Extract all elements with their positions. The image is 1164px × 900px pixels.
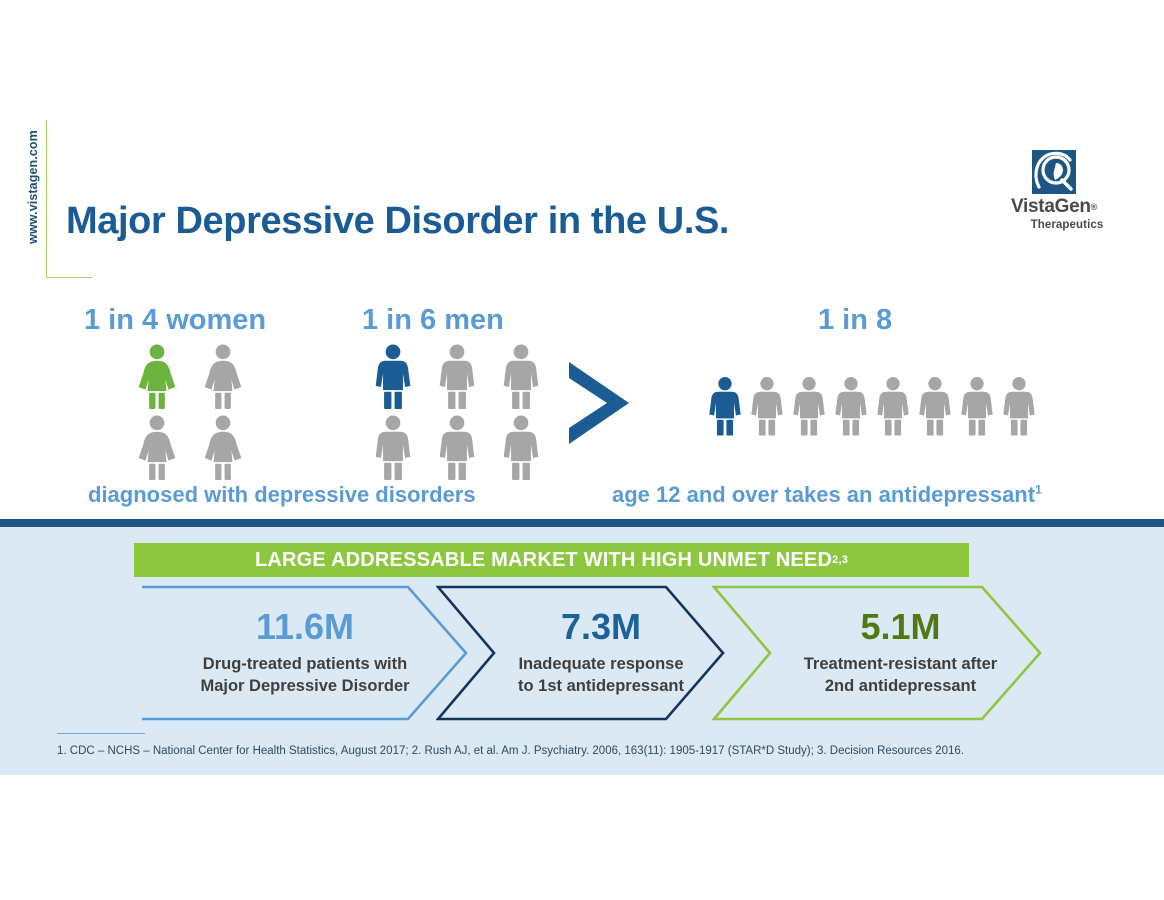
male-figure-icon xyxy=(1000,376,1038,436)
male-figure-icon xyxy=(916,376,954,436)
funnel-stage-1-desc-line2: Major Depressive Disorder xyxy=(200,675,409,697)
male-figure-icon xyxy=(874,376,912,436)
logo-registered-mark: ® xyxy=(1091,202,1097,212)
male-figure-icon xyxy=(790,376,828,436)
funnel-stage-2-desc-line1: Inadequate response xyxy=(518,653,684,675)
vertical-accent-rule-foot xyxy=(46,277,92,278)
market-banner: LARGE ADDRESSABLE MARKET WITH HIGH UNMET… xyxy=(134,543,969,577)
footnote-text: 1. CDC – NCHS – National Center for Heal… xyxy=(57,745,964,757)
funnel-stage-1-desc-line1: Drug-treated patients with xyxy=(200,653,409,675)
stat-caption-right: age 12 and over takes an antidepressant1 xyxy=(612,482,1042,508)
stat-caption-left: diagnosed with depressive disorders xyxy=(88,482,476,508)
funnel-stage-3-content: 5.1M Treatment-resistant after 2nd antid… xyxy=(700,583,1119,723)
male-figure-icon xyxy=(372,415,414,480)
male-figure-icon xyxy=(436,344,478,409)
funnel-stage-2: 7.3M Inadequate response to 1st antidepr… xyxy=(436,583,726,723)
page-title: Major Depressive Disorder in the U.S. xyxy=(66,200,729,243)
section-divider-bar xyxy=(0,519,1164,527)
funnel-stage-1: 11.6M Drug-treated patients with Major D… xyxy=(140,583,470,723)
funnel-stage-2-desc-line2: to 1st antidepressant xyxy=(518,675,684,697)
male-figure-icon xyxy=(372,344,414,409)
greater-than-chevron-icon xyxy=(563,358,639,448)
vertical-website-url-label: www.vistagen.com xyxy=(26,112,40,262)
vistagen-swirl-icon xyxy=(1032,150,1076,194)
female-figure-icon xyxy=(202,344,244,409)
pictogram-row xyxy=(372,415,542,480)
pictogram-row xyxy=(372,344,542,409)
stat-caption-right-text: age 12 and over takes an antidepressant xyxy=(612,482,1035,507)
funnel-stage-2-value: 7.3M xyxy=(561,609,641,645)
female-figure-icon xyxy=(202,415,244,480)
pictogram-women xyxy=(136,344,244,480)
logo-wordmark: VistaGen® xyxy=(994,197,1114,216)
vertical-website-url: www.vistagen.com xyxy=(16,122,42,282)
stat-headline-women: 1 in 4 women xyxy=(84,304,266,337)
pictogram-antidepressant xyxy=(706,376,1038,436)
statistics-row: 1 in 4 women 1 in 6 men 1 in 8 diagnosed… xyxy=(0,296,1164,521)
female-figure-icon xyxy=(136,344,178,409)
logo-subtitle: Therapeutics xyxy=(994,219,1114,231)
funnel-stage-3-desc-line1: Treatment-resistant after xyxy=(804,653,997,675)
slide-canvas: www.vistagen.com VistaGen® Therapeutics … xyxy=(0,0,1164,900)
pictogram-row xyxy=(136,344,244,409)
market-banner-text: LARGE ADDRESSABLE MARKET WITH HIGH UNMET… xyxy=(255,549,832,572)
male-figure-icon xyxy=(500,344,542,409)
female-figure-icon xyxy=(136,415,178,480)
funnel-stage-3: 5.1M Treatment-resistant after 2nd antid… xyxy=(700,583,1045,723)
male-figure-icon xyxy=(832,376,870,436)
stat-headline-men: 1 in 6 men xyxy=(362,304,504,337)
pictogram-row xyxy=(706,376,1038,436)
market-funnel: 11.6M Drug-treated patients with Major D… xyxy=(0,583,1164,723)
male-figure-icon xyxy=(436,415,478,480)
vertical-accent-rule xyxy=(46,120,47,278)
male-figure-icon xyxy=(748,376,786,436)
funnel-stage-3-value: 5.1M xyxy=(860,609,940,645)
pictogram-men xyxy=(372,344,542,480)
male-figure-icon xyxy=(958,376,996,436)
vistagen-logo: VistaGen® Therapeutics xyxy=(994,150,1114,231)
funnel-stage-3-desc-line2: 2nd antidepressant xyxy=(804,675,997,697)
logo-wordmark-text: VistaGen xyxy=(1011,196,1091,217)
funnel-stage-2-description: Inadequate response to 1st antidepressan… xyxy=(518,653,684,698)
funnel-stage-1-description: Drug-treated patients with Major Depress… xyxy=(200,653,409,698)
funnel-stage-1-value: 11.6M xyxy=(256,609,354,645)
market-banner-superscript: 2,3 xyxy=(832,554,848,566)
male-figure-icon xyxy=(500,415,542,480)
market-panel: LARGE ADDRESSABLE MARKET WITH HIGH UNMET… xyxy=(0,527,1164,775)
pictogram-row xyxy=(136,415,244,480)
stat-caption-right-superscript: 1 xyxy=(1035,483,1042,497)
footnote-rule xyxy=(57,733,145,734)
stat-headline-antidepressant: 1 in 8 xyxy=(818,304,892,337)
funnel-stage-3-description: Treatment-resistant after 2nd antidepres… xyxy=(804,653,997,698)
male-figure-icon xyxy=(706,376,744,436)
